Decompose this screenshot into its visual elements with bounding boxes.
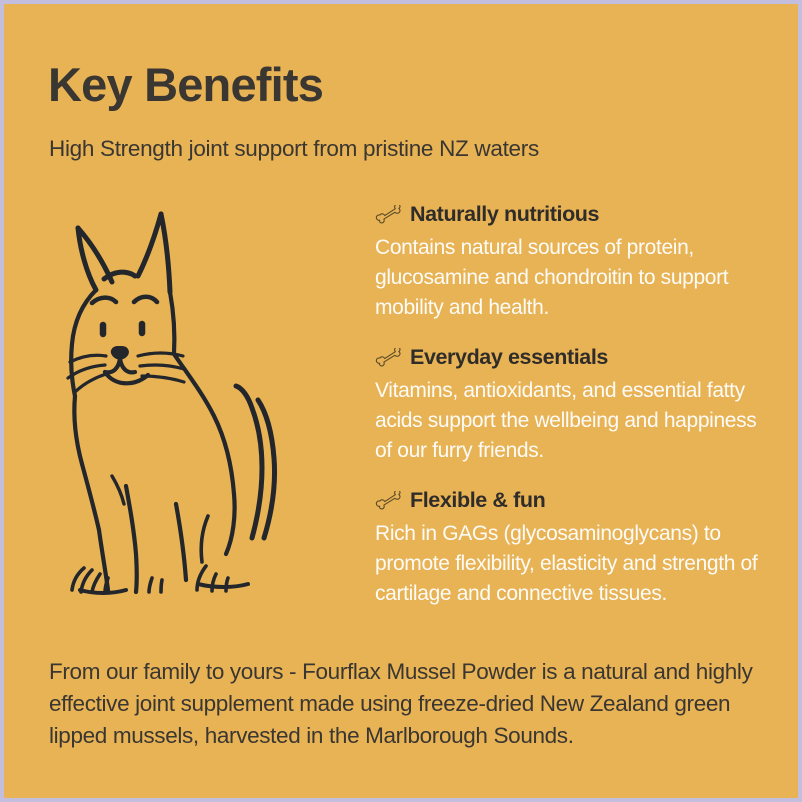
- page-title: Key Benefits: [48, 61, 323, 108]
- benefit-title: Everyday essentials: [410, 347, 608, 369]
- benefit-item: Flexible & fun Rich in GAGs (glycosamino…: [375, 488, 770, 609]
- benefit-title: Naturally nutritious: [410, 204, 599, 226]
- bone-icon: [375, 491, 405, 513]
- benefit-item: Everyday essentials Vitamins, antioxidan…: [375, 345, 770, 466]
- cat-illustration: [56, 186, 316, 596]
- page-subtitle: High Strength joint support from pristin…: [49, 138, 539, 161]
- footer-paragraph: From our family to yours - Fourflax Muss…: [49, 656, 761, 752]
- benefit-heading: Everyday essentials: [375, 345, 770, 371]
- benefit-title: Flexible & fun: [410, 490, 545, 512]
- bone-icon: [375, 348, 405, 370]
- benefit-description: Rich in GAGs (glycosaminoglycans) to pro…: [375, 519, 767, 609]
- benefit-item: Naturally nutritious Contains natural so…: [375, 202, 770, 323]
- bone-icon: [375, 205, 405, 227]
- benefit-description: Contains natural sources of protein, glu…: [375, 233, 767, 323]
- benefit-heading: Naturally nutritious: [375, 202, 770, 228]
- key-benefits-card: Key Benefits High Strength joint support…: [4, 4, 798, 798]
- benefit-description: Vitamins, antioxidants, and essential fa…: [375, 376, 767, 466]
- benefits-list: Naturally nutritious Contains natural so…: [375, 202, 770, 609]
- benefit-heading: Flexible & fun: [375, 488, 770, 514]
